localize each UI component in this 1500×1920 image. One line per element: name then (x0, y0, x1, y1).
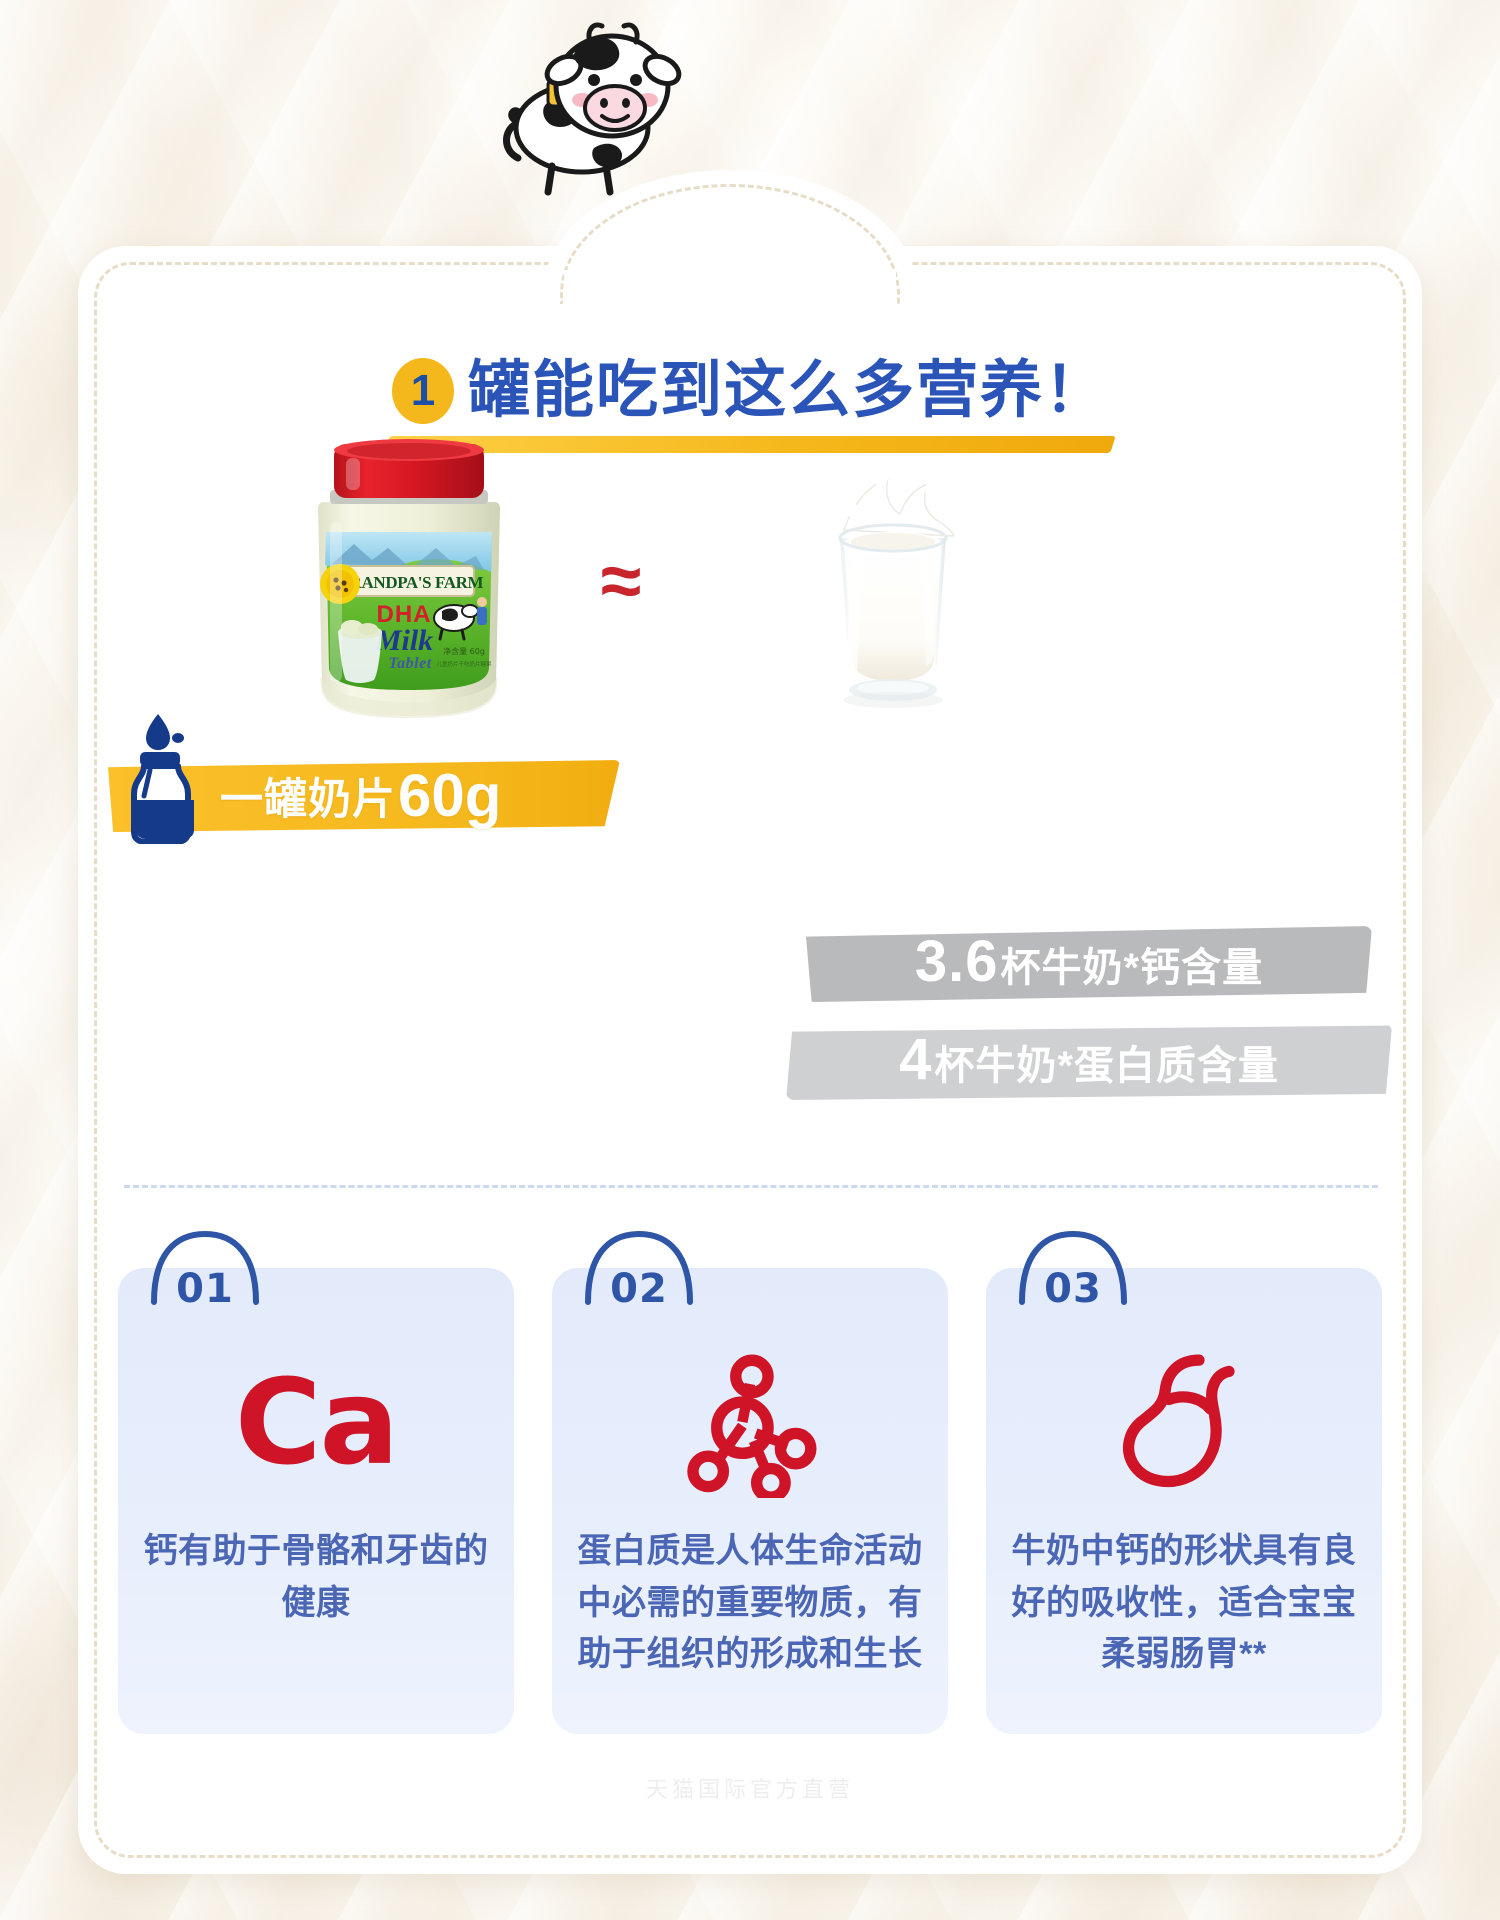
badge-02: 02 (580, 1228, 698, 1306)
milk-glass-image (778, 438, 1008, 728)
badge-03-number: 03 (1044, 1266, 1102, 1306)
benefit-card-calcium-text: 钙有助于骨骼和牙齿的健康 (140, 1526, 492, 1629)
ca-symbol: Ca (235, 1363, 397, 1481)
svg-text:净含量 60g: 净含量 60g (443, 646, 485, 656)
serving-banner-label: 一罐奶片 60g (220, 760, 604, 832)
calcium-ca-icon: Ca (118, 1342, 514, 1502)
product-jar-image: GRANDPA'S FARM DHA Milk Tablet (294, 436, 524, 726)
protein-label: 杯牛奶*蛋白质含量 (934, 1044, 1279, 1088)
svg-text:Milk: Milk (374, 624, 433, 657)
headline-number-badge: 1 (392, 358, 454, 424)
headline-text: 罐能吃到这么多营养！ (468, 360, 1108, 422)
cow-mascot-icon (490, 8, 700, 208)
milk-bottle-icon (114, 708, 218, 844)
serving-amount-text: 60g (398, 769, 501, 823)
watermark-text: 天猫国际官方直营 (646, 1772, 854, 1804)
page-title: 1 罐能吃到这么多营养！ (78, 358, 1422, 424)
calcium-label: 杯牛奶*钙含量 (1001, 946, 1264, 990)
benefit-card-absorption: 03 牛奶中钙的形状具有良好的吸收性，适合宝宝柔弱肠胃** (986, 1268, 1382, 1734)
section-divider (124, 1185, 1378, 1188)
badge-01-number: 01 (176, 1266, 234, 1306)
benefit-card-protein-text: 蛋白质是人体生命活动中必需的重要物质，有助于组织的形成和生长 (574, 1526, 926, 1681)
serving-size-banner: 一罐奶片 60g (108, 760, 620, 832)
equivalence-banner-protein: 4杯牛奶*蛋白质含量 (786, 1024, 1392, 1100)
serving-label-text: 一罐奶片 (220, 765, 396, 827)
calcium-multiplier: 3.6 (915, 929, 999, 994)
badge-02-number: 02 (610, 1266, 668, 1306)
benefit-card-calcium: 01 Ca 钙有助于骨骼和牙齿的健康 (118, 1268, 514, 1734)
svg-text:Tablet: Tablet (388, 655, 431, 672)
benefit-card-absorption-text: 牛奶中钙的形状具有良好的吸收性，适合宝宝柔弱肠胃** (1008, 1526, 1360, 1681)
badge-01: 01 (146, 1228, 264, 1306)
calcium-banner-text: 3.6杯牛奶*钙含量 (915, 935, 1263, 993)
benefit-card-protein: 02 蛋白质是人体生命活动中必需的重要物质，有助于组织的形成和生长 (552, 1268, 948, 1734)
badge-03: 03 (1014, 1228, 1132, 1306)
approx-equal-symbol: ≈ (576, 546, 666, 616)
protein-banner-text: 4杯牛奶*蛋白质含量 (899, 1033, 1279, 1091)
equivalence-banner-calcium: 3.6杯牛奶*钙含量 (806, 926, 1372, 1002)
benefit-card-list: 01 Ca 钙有助于骨骼和牙齿的健康 02 (118, 1268, 1382, 1738)
svg-text:儿童奶片干吃奶片糖果: 儿童奶片干吃奶片糖果 (436, 660, 492, 668)
protein-molecule-icon (552, 1342, 948, 1502)
stomach-icon (986, 1342, 1382, 1502)
notch-seam-mask (564, 270, 896, 296)
protein-multiplier: 4 (899, 1027, 932, 1092)
